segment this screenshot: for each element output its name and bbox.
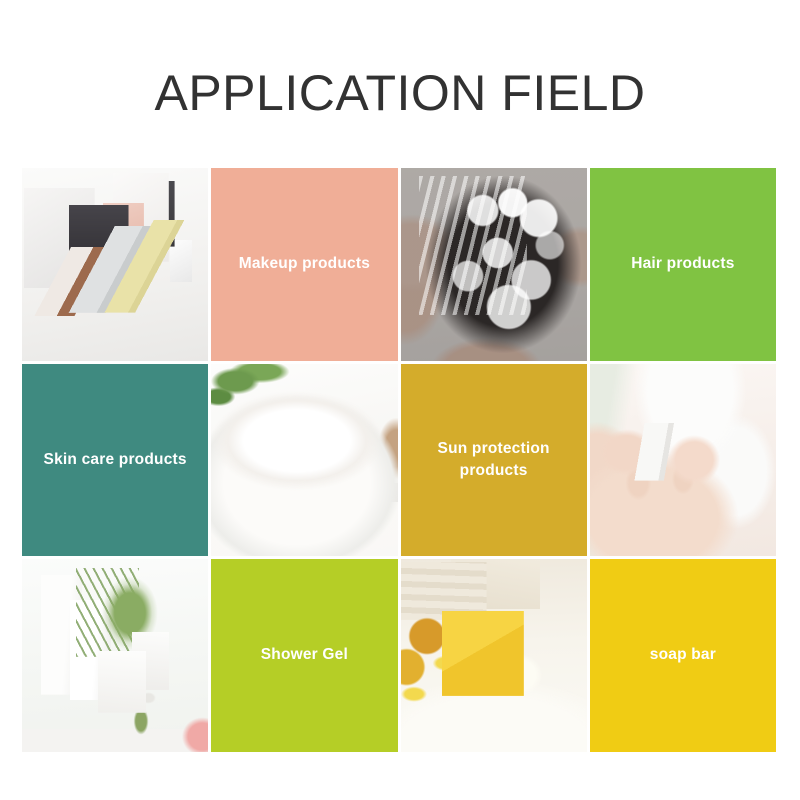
bath-products-photo bbox=[22, 559, 208, 752]
application-field-poster: APPLICATION FIELD Makeup products Hair p… bbox=[0, 0, 800, 800]
cell-soap-bar[interactable]: soap bar bbox=[590, 559, 776, 752]
makeup-palette-photo bbox=[22, 168, 208, 361]
cell-label-hair-products: Hair products bbox=[631, 253, 734, 275]
cell-skin-care-products[interactable]: Skin care products bbox=[22, 364, 208, 557]
yellow-soap-photo bbox=[401, 559, 587, 752]
page-title: APPLICATION FIELD bbox=[0, 64, 800, 122]
cell-makeup-products[interactable]: Makeup products bbox=[211, 168, 397, 361]
cream-jar-photo bbox=[211, 364, 397, 557]
cell-label-shower-gel: Shower Gel bbox=[261, 644, 348, 666]
cell-label-skin-care-products: Skin care products bbox=[44, 449, 187, 471]
cell-label-makeup-products: Makeup products bbox=[239, 253, 370, 275]
cell-shower-gel[interactable]: Shower Gel bbox=[211, 559, 397, 752]
hair-washing-photo bbox=[401, 168, 587, 361]
cell-label-soap-bar: soap bar bbox=[650, 644, 716, 666]
cell-sun-protection-products[interactable]: Sun protection products bbox=[401, 364, 587, 557]
application-field-grid: Makeup products Hair products Skin care … bbox=[22, 168, 776, 752]
cell-hair-products[interactable]: Hair products bbox=[590, 168, 776, 361]
cell-label-sun-protection-products: Sun protection products bbox=[409, 438, 579, 483]
body-lotion-photo bbox=[590, 364, 776, 557]
